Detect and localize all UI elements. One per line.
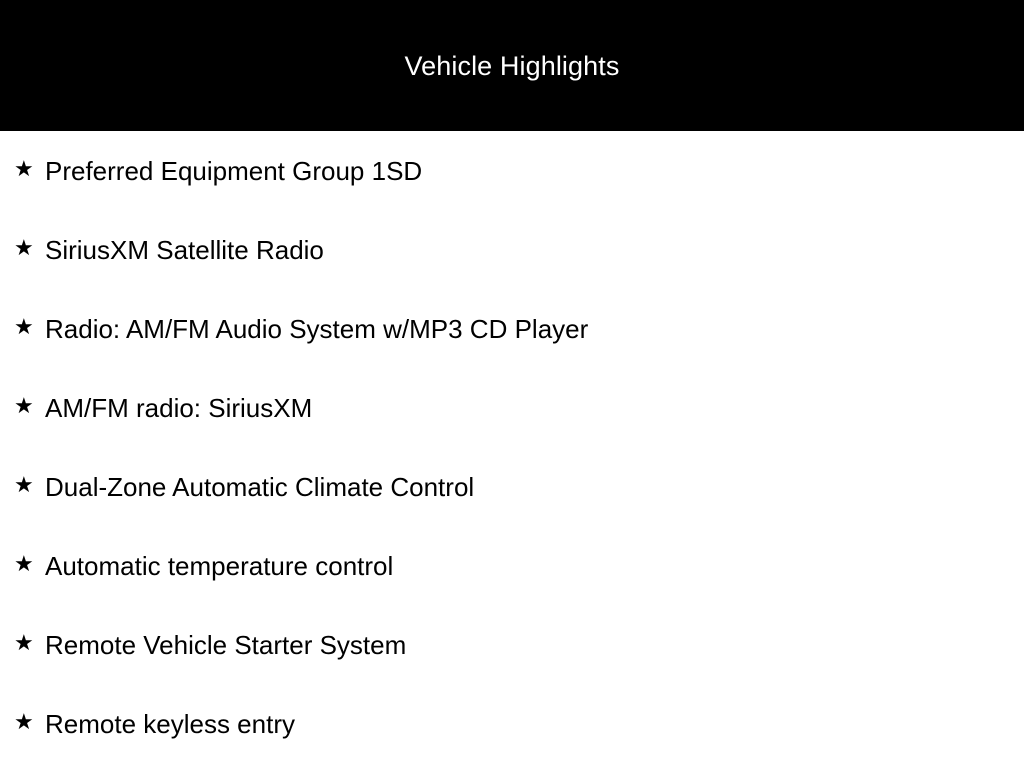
star-icon: ★ bbox=[14, 631, 32, 657]
list-item: ★ Remote keyless entry bbox=[0, 684, 1024, 763]
star-icon: ★ bbox=[14, 710, 32, 736]
list-item: ★ Preferred Equipment Group 1SD bbox=[0, 131, 1024, 210]
list-item-label: Remote keyless entry bbox=[45, 709, 295, 739]
list-item-label: Automatic temperature control bbox=[45, 551, 393, 581]
star-icon: ★ bbox=[14, 236, 32, 262]
list-item-label: SiriusXM Satellite Radio bbox=[45, 235, 324, 265]
list-item-label: AM/FM radio: SiriusXM bbox=[45, 393, 312, 423]
vehicle-highlights-page: Vehicle Highlights ★ Preferred Equipment… bbox=[0, 0, 1024, 768]
star-icon: ★ bbox=[14, 315, 32, 341]
vehicle-highlights-list: ★ Preferred Equipment Group 1SD ★ Sirius… bbox=[0, 131, 1024, 763]
list-item-label: Remote Vehicle Starter System bbox=[45, 630, 406, 660]
star-icon: ★ bbox=[14, 157, 32, 183]
list-item: ★ AM/FM radio: SiriusXM bbox=[0, 368, 1024, 447]
header-bar: Vehicle Highlights bbox=[0, 0, 1024, 131]
list-item-label: Dual-Zone Automatic Climate Control bbox=[45, 472, 474, 502]
list-item-label: Preferred Equipment Group 1SD bbox=[45, 156, 422, 186]
star-icon: ★ bbox=[14, 394, 32, 420]
list-item: ★ Dual-Zone Automatic Climate Control bbox=[0, 447, 1024, 526]
star-icon: ★ bbox=[14, 552, 32, 578]
page-title: Vehicle Highlights bbox=[405, 53, 620, 80]
list-item: ★ Radio: AM/FM Audio System w/MP3 CD Pla… bbox=[0, 289, 1024, 368]
list-item: ★ Automatic temperature control bbox=[0, 526, 1024, 605]
star-icon: ★ bbox=[14, 473, 32, 499]
list-item: ★ Remote Vehicle Starter System bbox=[0, 605, 1024, 684]
list-item-label: Radio: AM/FM Audio System w/MP3 CD Playe… bbox=[45, 314, 588, 344]
list-item: ★ SiriusXM Satellite Radio bbox=[0, 210, 1024, 289]
